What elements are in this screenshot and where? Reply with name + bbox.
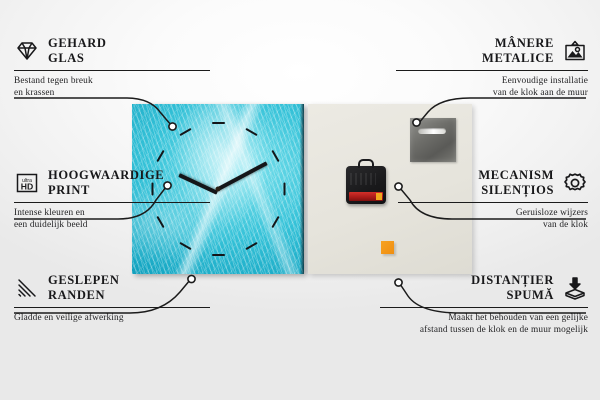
feature-title: DISTANȚIER SPUMĂ: [471, 273, 554, 304]
feature-title-line2: METALICE: [482, 51, 554, 66]
feature-desc-line1: Geruisloze wijzers: [398, 207, 588, 219]
divider: [396, 70, 588, 71]
feature-title-line1: DISTANȚIER: [471, 273, 554, 288]
feature-tempered-glass: GEHARD GLAS Bestand tegen breuk en krass…: [14, 36, 210, 99]
feature-desc-line2: een duidelijk beeld: [14, 219, 210, 231]
battery: [349, 192, 383, 201]
feature-description: Geruisloze wijzers van de klok: [398, 207, 588, 232]
battery-plus-terminal: [376, 193, 382, 200]
feature-title-line1: GESLEPEN: [48, 273, 120, 288]
feature-title-line1: GEHARD: [48, 36, 106, 51]
press-down-pad-icon: [562, 276, 588, 300]
feature-header: MÂNERE METALICE: [396, 36, 588, 67]
feature-header: GEHARD GLAS: [14, 36, 210, 67]
feature-header: MECANISM SILENȚIOS: [398, 168, 588, 199]
foam-spacer-pad: [381, 241, 394, 254]
feature-header: GESLEPEN RANDEN: [14, 273, 210, 304]
feature-title: GEHARD GLAS: [48, 36, 106, 67]
clock-mechanism-box: [346, 166, 386, 204]
glass-edge-shadow: [300, 104, 304, 274]
feature-description: Gladde en veilige afwerking: [14, 312, 210, 324]
feature-title-line2: PRINT: [48, 183, 164, 198]
divider: [14, 70, 210, 71]
feature-description: Maakt het behouden van een gelijke afsta…: [380, 312, 588, 337]
feature-desc-line1: Gladde en veilige afwerking: [14, 312, 210, 324]
feature-title-line2: GLAS: [48, 51, 106, 66]
feature-desc-line1: Eenvoudige installatie: [396, 75, 588, 87]
gear-icon: [562, 171, 588, 195]
feature-desc-line1: Intense kleuren en: [14, 207, 210, 219]
feature-header: ultra HD HOOGWAARDIGE PRINT: [14, 168, 210, 199]
feature-desc-line1: Bestand tegen breuk: [14, 75, 210, 87]
hand-center-cap: [216, 187, 221, 192]
feature-title: MÂNERE METALICE: [482, 36, 554, 67]
infographic-canvas: GEHARD GLAS Bestand tegen breuk en krass…: [0, 0, 600, 400]
divider: [14, 307, 210, 308]
feature-title-line1: HOOGWAARDIGE: [48, 168, 164, 183]
feature-title-line2: SPUMĂ: [471, 288, 554, 303]
feature-title-line1: MECANISM: [478, 168, 554, 183]
hour-tick: [212, 122, 225, 124]
feature-description: Eenvoudige installatie van de klok aan d…: [396, 75, 588, 100]
feature-desc-line2: en krassen: [14, 87, 210, 99]
mechanism-detail: [350, 173, 376, 185]
feature-title-line2: RANDEN: [48, 288, 120, 303]
feature-desc-line2: afstand tussen de klok en de muur mogeli…: [380, 324, 588, 336]
feature-high-quality-print: ultra HD HOOGWAARDIGE PRINT Intense kleu…: [14, 168, 210, 231]
diamond-icon: [14, 39, 40, 63]
feature-title-line2: SILENȚIOS: [478, 183, 554, 198]
hour-tick: [283, 183, 285, 196]
feature-desc-line1: Maakt het behouden van een gelijke: [380, 312, 588, 324]
feature-desc-line2: van de klok: [398, 219, 588, 231]
divider: [380, 307, 588, 308]
feature-title: HOOGWAARDIGE PRINT: [48, 168, 164, 199]
diagonal-lines-icon: [14, 276, 40, 300]
feature-header: DISTANȚIER SPUMĂ: [380, 273, 588, 304]
metal-hanger-plate: [410, 118, 456, 162]
ultra-hd-icon: ultra HD: [14, 171, 40, 195]
feature-silent-mechanism: MECANISM SILENȚIOS Geruisloze wijzers va…: [398, 168, 588, 231]
hanging-picture-icon: [562, 39, 588, 63]
feature-metal-handles: MÂNERE METALICE Eenvoudige installatie v…: [396, 36, 588, 99]
feature-description: Bestand tegen breuk en krassen: [14, 75, 210, 100]
hanger-slot: [418, 128, 446, 134]
hanger-loop: [358, 159, 374, 168]
feature-desc-line2: van de klok aan de muur: [396, 87, 588, 99]
divider: [14, 202, 210, 203]
feature-ground-edges: GESLEPEN RANDEN Gladde en veilige afwerk…: [14, 273, 210, 324]
svg-text:HD: HD: [21, 182, 33, 192]
divider: [398, 202, 588, 203]
hour-tick: [212, 254, 225, 256]
feature-foam-spacer: DISTANȚIER SPUMĂ Maakt het behouden van …: [380, 273, 588, 336]
feature-description: Intense kleuren en een duidelijk beeld: [14, 207, 210, 232]
feature-title: MECANISM SILENȚIOS: [478, 168, 554, 199]
feature-title: GESLEPEN RANDEN: [48, 273, 120, 304]
feature-title-line1: MÂNERE: [482, 36, 554, 51]
